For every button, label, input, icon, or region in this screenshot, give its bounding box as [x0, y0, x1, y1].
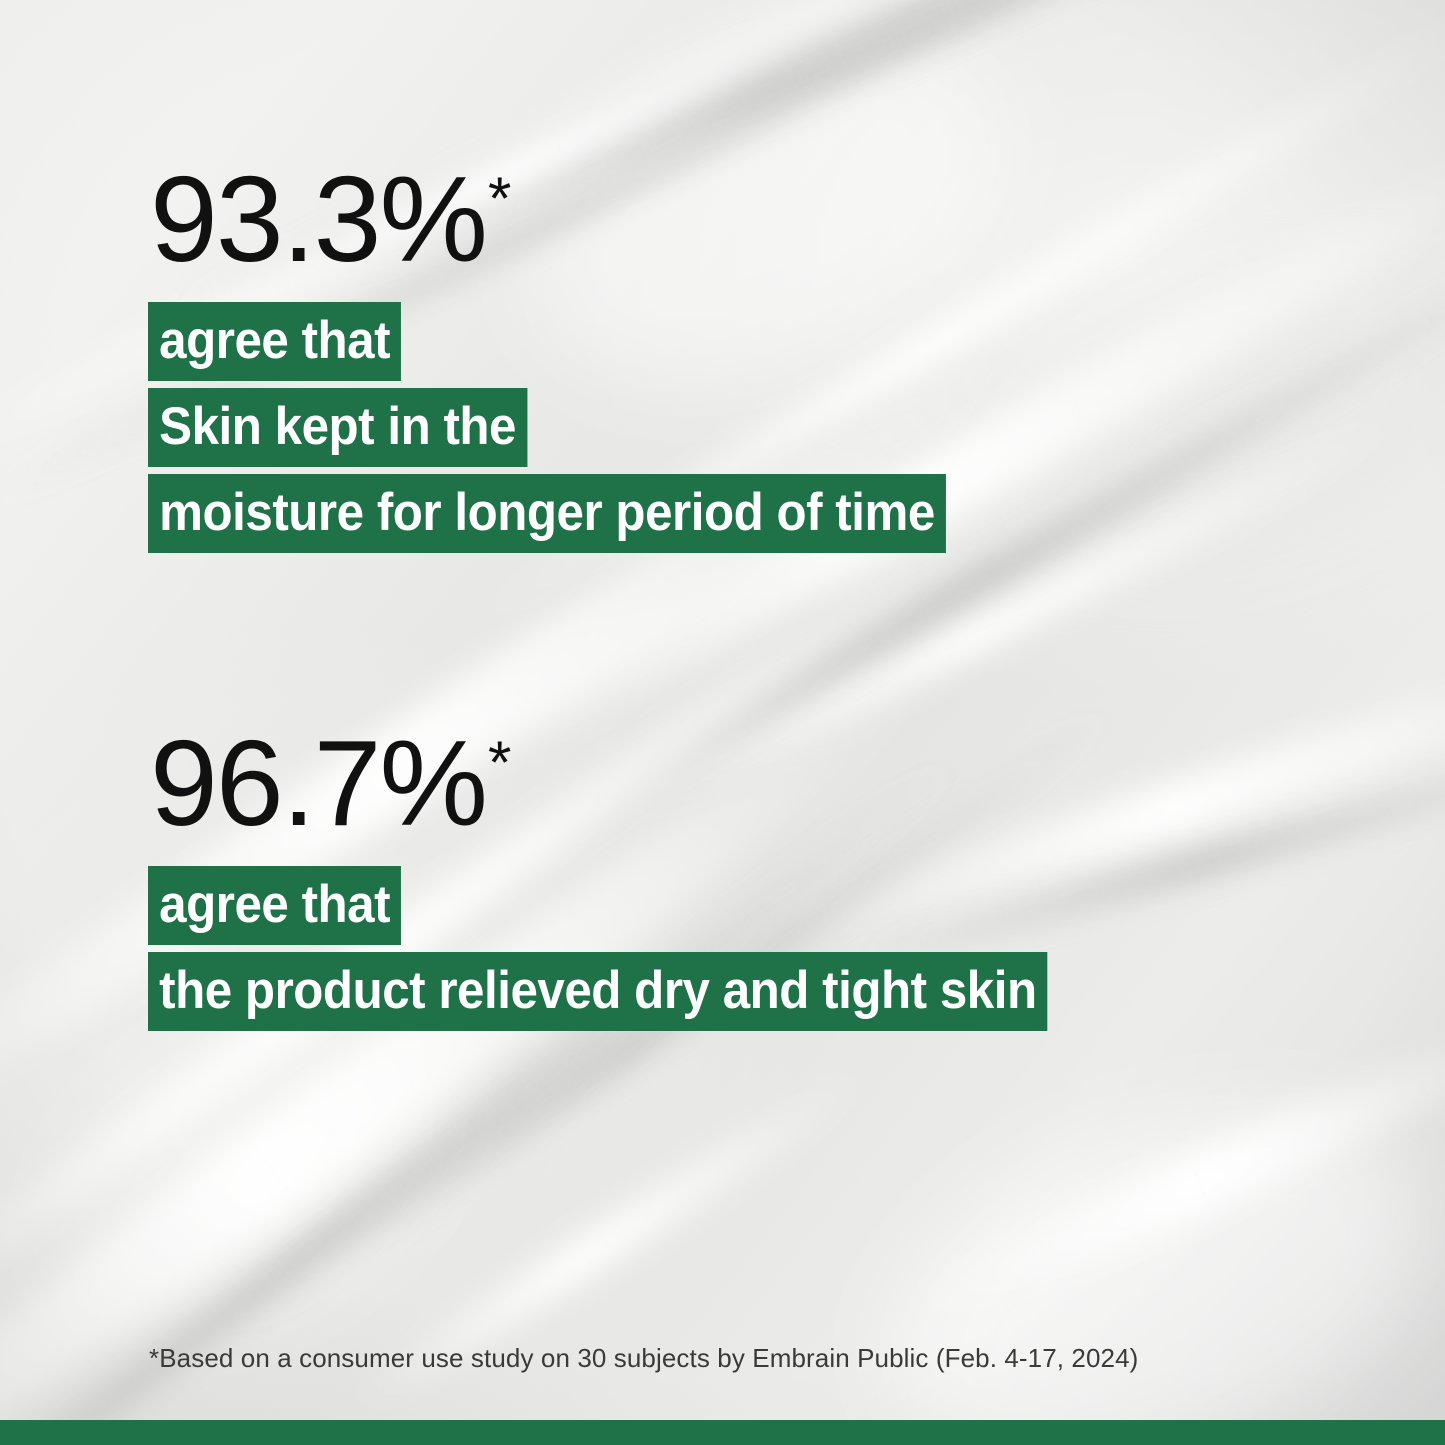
claim-lines-1: agree that Skin kept in the moisture for… — [148, 302, 1006, 553]
claim-line: the product relieved dry and tight skin — [148, 952, 1048, 1031]
claim-line: agree that — [148, 302, 401, 381]
claim-block-1: 93.3%* agree that Skin kept in the moist… — [148, 158, 1006, 553]
content-layer: 93.3%* agree that Skin kept in the moist… — [0, 0, 1445, 1445]
claim-percent-1: 93.3%* — [150, 158, 1006, 280]
claim-percent-2: 96.7%* — [150, 722, 1115, 844]
bottom-green-band — [0, 1420, 1445, 1445]
study-footnote: *Based on a consumer use study on 30 sub… — [149, 1343, 1138, 1374]
claim-line: Skin kept in the — [148, 388, 527, 467]
percent-value: 93.3% — [150, 151, 486, 287]
percent-value: 96.7% — [150, 715, 486, 851]
footnote-marker: * — [488, 165, 511, 232]
claim-lines-2: agree that the product relieved dry and … — [148, 866, 1115, 1031]
claim-line: moisture for longer period of time — [148, 474, 946, 553]
claim-line: agree that — [148, 866, 401, 945]
claims-poster: 93.3%* agree that Skin kept in the moist… — [0, 0, 1445, 1445]
footnote-marker: * — [488, 729, 511, 796]
claim-block-2: 96.7%* agree that the product relieved d… — [148, 722, 1115, 1031]
